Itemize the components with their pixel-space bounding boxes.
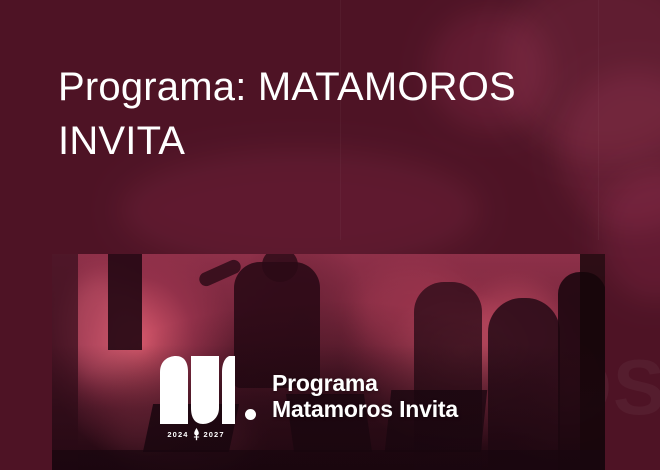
poster-canvas: OS Programa: MATAMOROS INVITA — [0, 0, 660, 470]
program-logo-lockup: 2024 2027 Programa Matamoros Invita — [157, 356, 458, 438]
logo-year-end: 2027 — [204, 430, 225, 439]
background-blob — [600, 170, 660, 300]
program-logo-title: Programa Matamoros Invita — [272, 371, 458, 423]
photo-desk-silhouette — [52, 450, 605, 470]
photo-figure-silhouette — [108, 254, 142, 350]
torch-emblem-icon — [192, 428, 201, 441]
page-title: Programa: MATAMOROS INVITA — [58, 60, 588, 168]
matamoros-m-monogram-icon: 2024 2027 — [157, 356, 235, 438]
logo-accent-dot-icon — [245, 409, 256, 420]
logo-year-range: 2024 2027 — [157, 428, 235, 441]
photo-figure-silhouette — [488, 298, 560, 470]
logo-year-start: 2024 — [167, 430, 188, 439]
background-blob — [120, 150, 480, 270]
background-seam — [598, 0, 599, 240]
photo-figure-silhouette — [580, 254, 605, 470]
program-banner-image: 2024 2027 Programa Matamoros Invita — [52, 254, 605, 470]
photo-figure-silhouette — [52, 254, 78, 470]
